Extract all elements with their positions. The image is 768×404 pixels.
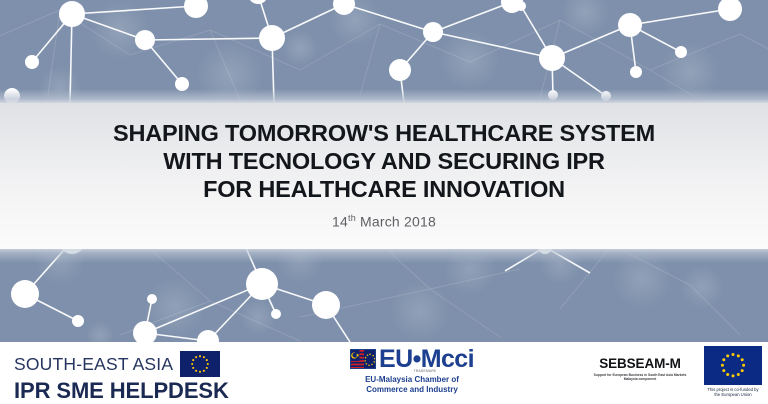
logo-eu-malaysia-chamber: EU•Mcci TRADEMARK EU-Malaysia Chamber of… — [332, 347, 492, 394]
bottom-banner — [0, 249, 768, 342]
malaysia-flag-glyph — [351, 350, 376, 369]
slide-title: SHAPING TOMORROW'S HEALTHCARE SYSTEM WIT… — [0, 119, 768, 230]
eumcci-eu: EU — [379, 345, 413, 373]
event-date-rest: March 2018 — [356, 214, 436, 230]
logo-sebseam-m: SEBSEAM-M Support for European Business … — [586, 356, 694, 382]
sebseam-title: SEBSEAM-M — [586, 356, 694, 371]
event-date: 14th March 2018 — [0, 213, 768, 230]
eu-stars-icon — [180, 351, 220, 377]
eumcci-subtitle-line-2: Commerce and Industry — [332, 385, 492, 395]
malaysia-eu-flag-icon — [350, 349, 376, 369]
eumcci-cci: cci — [441, 345, 474, 373]
title-line-2: WITH TECNOLOGY AND SECURING IPR — [0, 147, 768, 175]
logo-sea-ipr-sme-helpdesk: SOUTH-EAST ASIA — [14, 351, 264, 404]
helpdesk-line1-text: SOUTH-EAST ASIA — [14, 354, 173, 375]
event-date-day: 14 — [332, 214, 348, 230]
eumcci-subtitle: EU-Malaysia Chamber of Commerce and Indu… — [332, 375, 492, 394]
eu-flag-icon-large — [704, 346, 762, 385]
sebseam-subtitle: Support for European Business in South E… — [586, 373, 694, 382]
eumcci-wordmark-row: EU•Mcci — [332, 347, 492, 371]
top-banner — [0, 0, 768, 103]
eu-cofunded-text: This project is co-funded by the Europea… — [704, 387, 762, 398]
eu-flag-icon — [180, 351, 220, 377]
helpdesk-line2-text: IPR SME HELPDESK — [14, 378, 264, 404]
event-date-ordinal: th — [348, 213, 356, 223]
network-graphic-bottom — [0, 249, 768, 342]
title-line-3: FOR HEALTHCARE INNOVATION — [0, 175, 768, 203]
eu-stars-icon-large — [704, 346, 762, 385]
title-line-1: SHAPING TOMORROW'S HEALTHCARE SYSTEM — [0, 119, 768, 147]
eumcci-wordmark: EU•Mcci — [379, 347, 474, 371]
sebseam-subtitle-line-2: Malaysia component — [586, 377, 694, 381]
eu-cofunded-line-2: the European Union — [704, 392, 762, 397]
title-area: SHAPING TOMORROW'S HEALTHCARE SYSTEM WIT… — [0, 103, 768, 249]
logo-eu-cofunded: This project is co-funded by the Europea… — [704, 346, 762, 398]
presentation-slide: SHAPING TOMORROW'S HEALTHCARE SYSTEM WIT… — [0, 0, 768, 404]
eumcci-subtitle-line-1: EU-Malaysia Chamber of — [332, 375, 492, 385]
network-graphic-top — [0, 0, 768, 103]
footer-logo-bar: SOUTH-EAST ASIA — [0, 342, 768, 404]
helpdesk-top-row: SOUTH-EAST ASIA — [14, 351, 264, 377]
